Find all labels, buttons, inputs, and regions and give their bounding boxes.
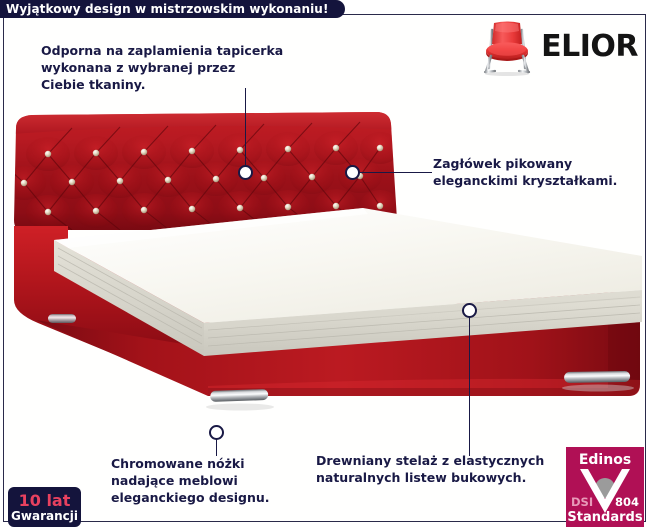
warranty-label: Gwarancji xyxy=(11,510,78,522)
edinos-standards-badge: Edinos DSI 804 Standards xyxy=(566,447,644,527)
product-infographic: Odporna na zaplamienia tapicerka wykonan… xyxy=(0,0,650,529)
callout-fabric: Odporna na zaplamienia tapicerka wykonan… xyxy=(41,42,296,93)
edinos-code-left: DSI xyxy=(571,497,593,509)
leader-line-slats xyxy=(469,316,470,456)
marker-legs[interactable] xyxy=(209,425,224,440)
leg-front-right xyxy=(564,371,630,383)
leader-line-headboard xyxy=(359,172,432,173)
leg-back-left xyxy=(48,314,76,323)
brand-logo[interactable]: ELIOR xyxy=(488,16,638,78)
marker-fabric[interactable] xyxy=(238,165,253,180)
warranty-badge: 10 lat Gwarancji xyxy=(8,487,81,527)
callout-legs: Chromowane nóżki nadające meblowi elegan… xyxy=(111,455,326,506)
warranty-years: 10 lat xyxy=(19,493,71,509)
marker-slats[interactable] xyxy=(462,303,477,318)
edinos-standards-label: Standards xyxy=(566,511,644,524)
leader-line-fabric xyxy=(245,88,246,172)
brand-name: ELIOR xyxy=(541,32,638,62)
header-banner-text: Wyjątkowy design w mistrzowskim wykonani… xyxy=(6,2,329,16)
chair-icon xyxy=(479,18,535,76)
callout-slats: Drewniany stelaż z elastycznych naturaln… xyxy=(316,452,571,486)
callout-headboard: Zagłówek pikowany eleganckimi kryształka… xyxy=(433,155,643,189)
header-banner: Wyjątkowy design w mistrzowskim wykonani… xyxy=(0,0,345,18)
edinos-code-right: 804 xyxy=(615,497,639,509)
leg-front-left xyxy=(210,389,268,402)
marker-headboard[interactable] xyxy=(345,165,360,180)
